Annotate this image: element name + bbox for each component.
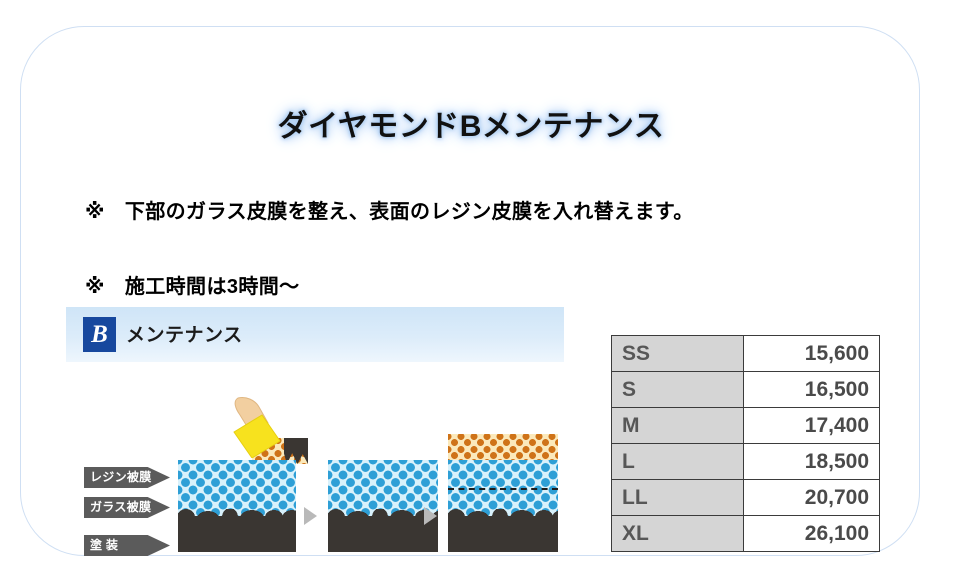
layer-tag-paint: 塗 装 xyxy=(84,535,170,556)
price-cell: 15,600 xyxy=(744,336,880,372)
paint-layer-step3 xyxy=(448,516,558,552)
price-table: SS 15,600 S 16,500 M 17,400 L 18,500 LL … xyxy=(611,335,880,552)
layer-tag-resin: レジン被膜 xyxy=(84,467,170,488)
glass-boundary-dashed-line xyxy=(448,488,558,490)
step-arrow-2-icon xyxy=(424,507,437,525)
step-arrow-1-icon xyxy=(304,507,317,525)
size-cell: SS xyxy=(612,336,744,372)
price-table-body: SS 15,600 S 16,500 M 17,400 L 18,500 LL … xyxy=(612,336,880,552)
size-cell: M xyxy=(612,408,744,444)
paint-layer-step1 xyxy=(178,516,296,552)
maintenance-diagram: B メンテナンス レジン被膜 ガラス被膜 塗 装 xyxy=(66,307,566,542)
price-cell: 16,500 xyxy=(744,372,880,408)
size-cell: XL xyxy=(612,516,744,552)
page-title: ダイヤモンドBメンテナンス xyxy=(21,101,921,145)
price-cell: 20,700 xyxy=(744,480,880,516)
layer-tag-glass: ガラス被膜 xyxy=(84,497,170,518)
resin-layer-step3 xyxy=(448,434,558,460)
content-card: ダイヤモンドBメンテナンス ※下部のガラス皮膜を整え、表面のレジン皮膜を入れ替え… xyxy=(20,26,920,556)
size-cell: S xyxy=(612,372,744,408)
glass-layer-step1 xyxy=(178,460,296,516)
table-row: L 18,500 xyxy=(612,444,880,480)
note-line-1: ※下部のガラス皮膜を整え、表面のレジン皮膜を入れ替えます。 xyxy=(85,195,694,224)
glass-layer-step3 xyxy=(448,460,558,516)
note-line-2: ※施工時間は3時間〜 xyxy=(85,270,300,299)
note-text-1: 下部のガラス皮膜を整え、表面のレジン皮膜を入れ替えます。 xyxy=(125,201,694,223)
diagram-header-band: B メンテナンス xyxy=(66,307,564,362)
price-cell: 18,500 xyxy=(744,444,880,480)
diagram-step-remove-resin xyxy=(178,460,296,552)
hand-with-sponge-icon xyxy=(222,396,284,458)
table-row: SS 15,600 xyxy=(612,336,880,372)
paint-surface-texture xyxy=(448,509,558,517)
b-grade-badge-icon: B xyxy=(83,317,116,352)
table-row: XL 26,100 xyxy=(612,516,880,552)
price-cell: 17,400 xyxy=(744,408,880,444)
table-row: M 17,400 xyxy=(612,408,880,444)
diagram-step-clean-glass xyxy=(328,460,438,552)
note-mark-1: ※ xyxy=(85,201,105,223)
diagram-header-label: メンテナンス xyxy=(126,320,243,347)
size-cell: LL xyxy=(612,480,744,516)
table-row: S 16,500 xyxy=(612,372,880,408)
note-text-2: 施工時間は3時間〜 xyxy=(125,276,300,298)
price-cell: 26,100 xyxy=(744,516,880,552)
paint-surface-texture xyxy=(178,509,296,517)
note-mark-2: ※ xyxy=(85,276,105,298)
diagram-step-new-resin xyxy=(448,434,558,552)
paint-layer-step2 xyxy=(328,516,438,552)
glass-layer-step2 xyxy=(328,460,438,516)
table-row: LL 20,700 xyxy=(612,480,880,516)
paint-surface-texture xyxy=(328,509,438,517)
size-cell: L xyxy=(612,444,744,480)
